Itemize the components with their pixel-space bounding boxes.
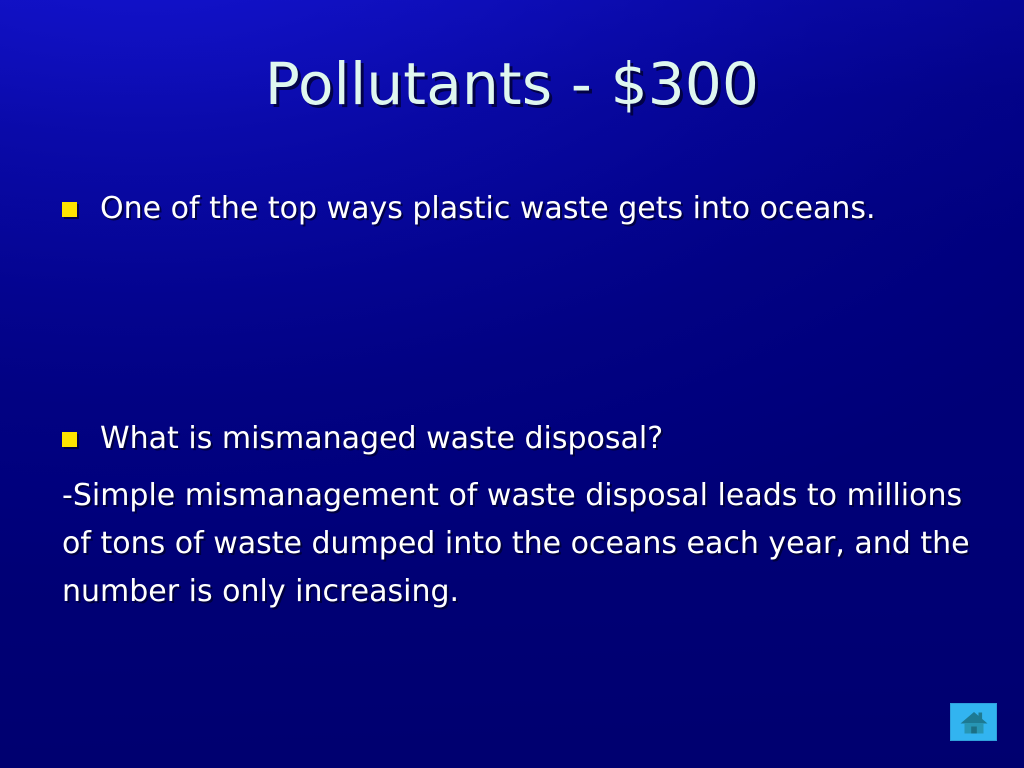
answer-text: What is mismanaged waste disposal? — [100, 416, 960, 461]
square-bullet-icon — [62, 432, 77, 447]
slide-body: One of the top ways plastic waste gets i… — [62, 186, 987, 616]
square-bullet-icon — [62, 202, 77, 217]
home-icon — [959, 710, 989, 735]
page-title: Pollutants - $300 — [0, 54, 1024, 114]
body-spacer — [62, 231, 987, 416]
home-button[interactable] — [950, 703, 997, 741]
slide-content: Pollutants - $300 One of the top ways pl… — [0, 0, 1024, 768]
slide-canvas: Pollutants - $300 One of the top ways pl… — [0, 0, 1024, 768]
answer-explanation: -Simple mismanagement of waste disposal … — [62, 472, 982, 616]
clue-text: One of the top ways plastic waste gets i… — [100, 186, 900, 231]
answer-bullet-item: What is mismanaged waste disposal? — [62, 416, 987, 461]
clue-bullet-item: One of the top ways plastic waste gets i… — [62, 186, 987, 231]
